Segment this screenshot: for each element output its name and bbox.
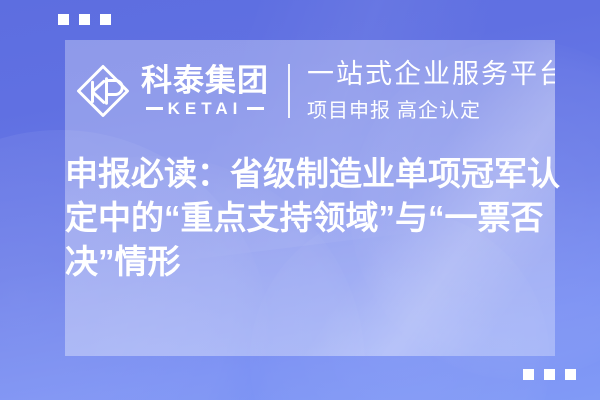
brand-name-cn: 科泰集团 [141,65,269,96]
brand-rule-left [146,107,163,110]
vertical-divider [288,64,290,118]
square-dot-icon [544,369,555,380]
square-dot-icon [565,369,576,380]
square-dot-icon [79,14,90,25]
decoration-dots-top-left [58,14,111,25]
square-dot-icon [100,14,111,25]
ketai-kp-diamond-logo-icon [75,63,131,119]
square-dot-icon [523,369,534,380]
poster-canvas: 科泰集团 KETAI 一站式企业服务平台 项目申报 高企认定 申报必读：省级制造… [0,0,600,400]
brand-header-row: 科泰集团 KETAI 一站式企业服务平台 项目申报 高企认定 [65,46,555,136]
tagline-group: 一站式企业服务平台 项目申报 高企认定 [307,59,555,122]
article-title: 申报必读：省级制造业单项冠军认定中的“重点支持领域”与“一票否决”情形 [65,152,565,284]
square-dot-icon [58,14,69,25]
brand-rule-right [247,107,264,110]
decoration-dots-bottom-right [523,369,576,380]
tagline-sub: 项目申报 高企认定 [307,99,555,123]
tagline-main: 一站式企业服务平台 [307,59,555,90]
brand-name-en: KETAI [168,100,243,117]
brand-lockup: 科泰集团 KETAI [75,63,269,119]
brand-name-en-row: KETAI [146,100,265,117]
brand-wordmark: 科泰集团 KETAI [141,65,269,117]
